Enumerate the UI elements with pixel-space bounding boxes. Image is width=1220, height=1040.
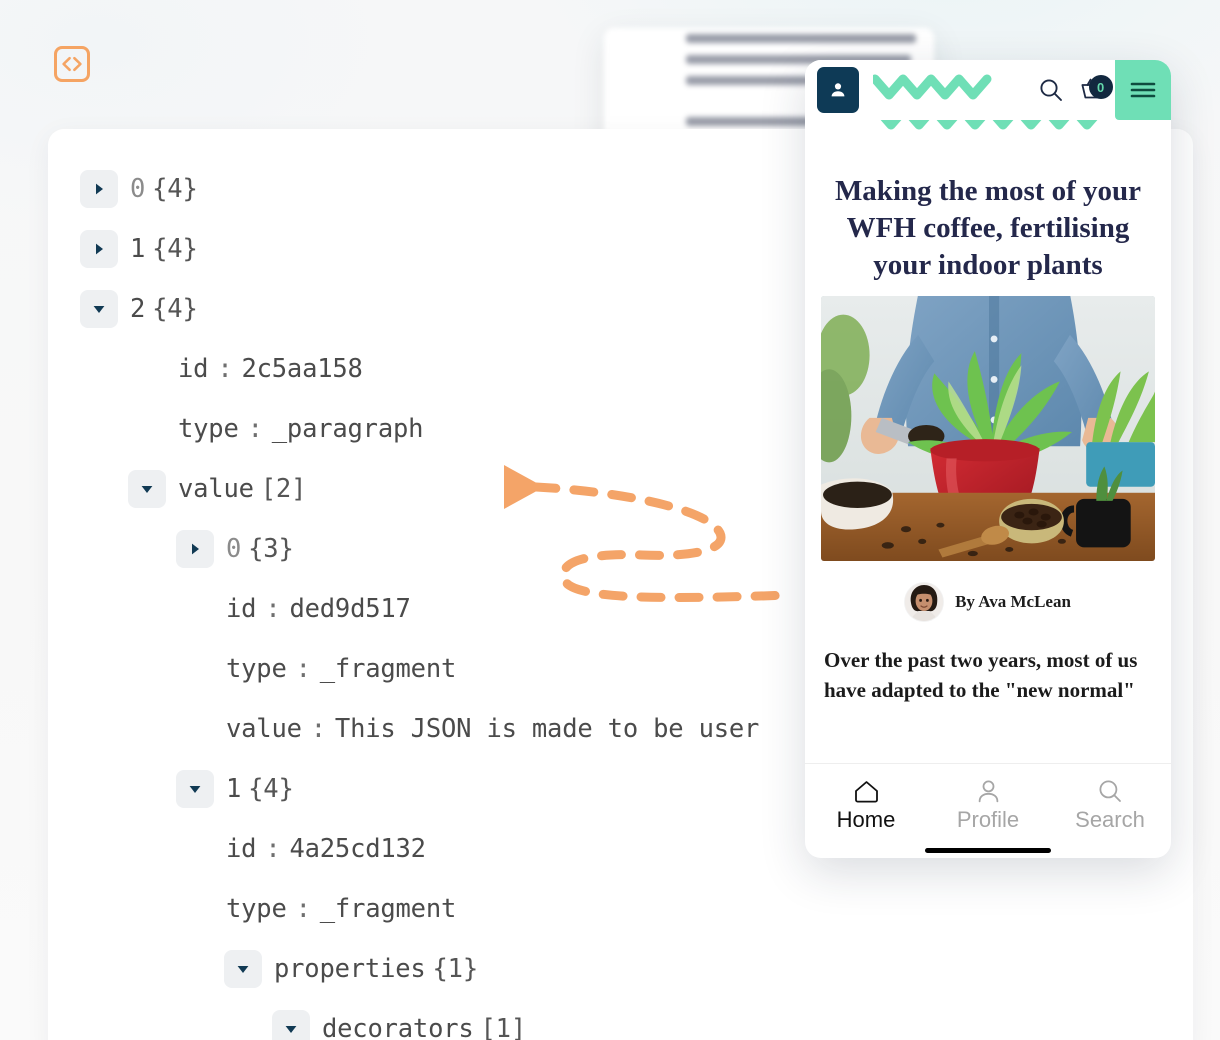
json-child-count: [2] — [254, 474, 306, 504]
byline: By Ava McLean — [805, 561, 1171, 629]
bottom-tab-bar: Home Profile Search — [805, 763, 1171, 839]
mobile-preview-card: 0 Making the most of your WFH coffee, fe… — [805, 60, 1171, 858]
avatar — [905, 583, 943, 621]
chevron-down-icon[interactable] — [80, 290, 118, 328]
hamburger-menu-icon[interactable] — [1115, 60, 1171, 120]
chevron-down-icon[interactable] — [272, 1010, 310, 1040]
json-separator: : — [256, 594, 289, 624]
json-child-count: [1] — [474, 1014, 526, 1040]
json-key: id — [226, 594, 256, 624]
json-value: _fragment — [320, 654, 456, 684]
json-tree-row: type:_fragment — [48, 879, 1193, 939]
json-key: decorators — [322, 1014, 474, 1040]
search-icon — [1049, 776, 1171, 806]
json-child-count: {3} — [241, 534, 293, 564]
chevron-right-icon[interactable] — [80, 170, 118, 208]
tab-search[interactable]: Search — [1049, 776, 1171, 833]
home-icon — [805, 776, 927, 806]
article-title: Making the most of your WFH coffee, fert… — [805, 120, 1171, 296]
json-value: 2c5aa158 — [241, 354, 362, 384]
json-child-count: {4} — [241, 774, 293, 804]
json-child-count: {4} — [145, 234, 197, 264]
chevron-right-icon[interactable] — [176, 530, 214, 568]
json-value: _paragraph — [272, 414, 424, 444]
json-key: id — [226, 834, 256, 864]
json-key: properties — [274, 954, 426, 984]
json-key: value — [226, 714, 302, 744]
screen: 0{4}1{4}2{4}id:2c5aa158type:_paragraphva… — [0, 0, 1220, 1040]
home-indicator — [925, 848, 1051, 853]
json-separator: : — [287, 654, 320, 684]
json-key: type — [226, 654, 287, 684]
tab-profile[interactable]: Profile — [927, 776, 1049, 833]
mobile-header: 0 — [805, 60, 1171, 120]
json-child-count: {4} — [145, 294, 197, 324]
byline-author: By Ava McLean — [955, 592, 1071, 612]
chevron-down-icon[interactable] — [176, 770, 214, 808]
json-child-count: {4} — [145, 174, 197, 204]
json-key: 0 — [226, 534, 241, 564]
basket-count-badge: 0 — [1089, 75, 1113, 99]
json-key: 0 — [130, 174, 145, 204]
json-key: value — [178, 474, 254, 504]
json-child-count: {1} — [426, 954, 478, 984]
basket-icon[interactable]: 0 — [1071, 77, 1115, 103]
chevron-right-icon[interactable] — [80, 230, 118, 268]
chevron-down-icon[interactable] — [224, 950, 262, 988]
search-icon[interactable] — [1031, 77, 1071, 103]
json-separator: : — [239, 414, 272, 444]
json-separator: : — [287, 894, 320, 924]
wave-w-logo[interactable] — [873, 69, 1031, 112]
json-separator: : — [302, 714, 335, 744]
json-tree-row[interactable]: properties{1} — [48, 939, 1193, 999]
json-key: 1 — [226, 774, 241, 804]
json-separator: : — [208, 354, 241, 384]
person-icon — [927, 776, 1049, 806]
json-value: ded9d517 — [289, 594, 410, 624]
json-separator: : — [256, 834, 289, 864]
json-key: type — [226, 894, 287, 924]
person-icon[interactable] — [817, 67, 859, 113]
tab-home-label: Home — [805, 807, 927, 833]
tab-profile-label: Profile — [927, 807, 1049, 833]
json-key: 1 — [130, 234, 145, 264]
article-hero-image — [821, 296, 1155, 561]
json-tree-row[interactable]: decorators[1] — [48, 999, 1193, 1040]
json-value: This JSON is made to be user — [335, 714, 759, 744]
mobile-body: Making the most of your WFH coffee, fert… — [805, 120, 1171, 763]
tab-search-label: Search — [1049, 807, 1171, 833]
code-brackets-icon[interactable] — [54, 46, 90, 82]
chevron-down-icon[interactable] — [128, 470, 166, 508]
json-key: id — [178, 354, 208, 384]
json-key: 2 — [130, 294, 145, 324]
json-value: _fragment — [320, 894, 456, 924]
json-key: type — [178, 414, 239, 444]
tab-home[interactable]: Home — [805, 776, 927, 833]
article-lede: Over the past two years, most of us have… — [805, 629, 1171, 705]
json-value: 4a25cd132 — [289, 834, 425, 864]
